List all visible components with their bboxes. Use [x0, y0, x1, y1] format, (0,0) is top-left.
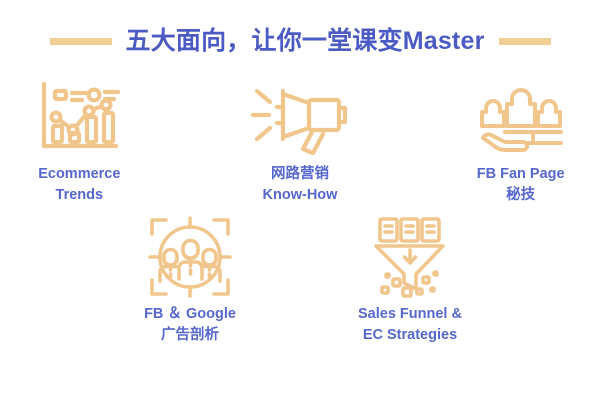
megaphone-icon	[250, 78, 350, 156]
feature-label-line1: Sales Funnel &	[358, 306, 462, 322]
feature-label-line2: 秘技	[477, 185, 565, 206]
feature-item-sales-funnel[interactable]: Sales Funnel & EC Strategies	[326, 218, 494, 346]
header: 五大面向，让你一堂课变Master	[0, 0, 600, 78]
feature-label-line1: 网路营销	[271, 166, 329, 182]
feature-label-line1: Ecommerce	[38, 166, 120, 182]
feature-label-line1: FB Fan Page	[477, 166, 565, 182]
feature-label: Sales Funnel & EC Strategies	[358, 304, 462, 346]
target-audience-icon	[140, 218, 240, 296]
feature-label-line1: FB ＆ Google	[144, 306, 236, 322]
feature-row-top: Ecommerce Trends	[0, 78, 600, 206]
feature-label-line2: 广告剖析	[144, 325, 236, 346]
feature-item-fb-fan-page[interactable]: FB Fan Page 秘技	[441, 78, 600, 206]
sales-funnel-icon	[360, 218, 460, 296]
analytics-chart-icon	[29, 78, 129, 156]
feature-label: FB ＆ Google 广告剖析	[144, 304, 236, 346]
title-rule-right	[499, 38, 551, 45]
feature-label-line2: Trends	[38, 185, 120, 206]
title-rule-left	[50, 38, 112, 45]
feature-label-line2: EC Strategies	[358, 325, 462, 346]
hand-holding-people-icon	[471, 78, 571, 156]
page-title: 五大面向，让你一堂课变Master	[126, 29, 485, 54]
feature-item-ecommerce-trends[interactable]: Ecommerce Trends	[0, 78, 159, 206]
feature-label: 网路营销 Know-How	[263, 164, 338, 206]
feature-label: FB Fan Page 秘技	[477, 164, 565, 206]
feature-row-bottom: FB ＆ Google 广告剖析	[0, 218, 600, 346]
feature-item-network-marketing[interactable]: 网路营销 Know-How	[221, 78, 380, 206]
feature-item-fb-google-ads[interactable]: FB ＆ Google 广告剖析	[106, 218, 274, 346]
feature-label: Ecommerce Trends	[38, 164, 120, 206]
feature-label-line2: Know-How	[263, 185, 338, 206]
feature-grid: Ecommerce Trends	[0, 78, 600, 346]
